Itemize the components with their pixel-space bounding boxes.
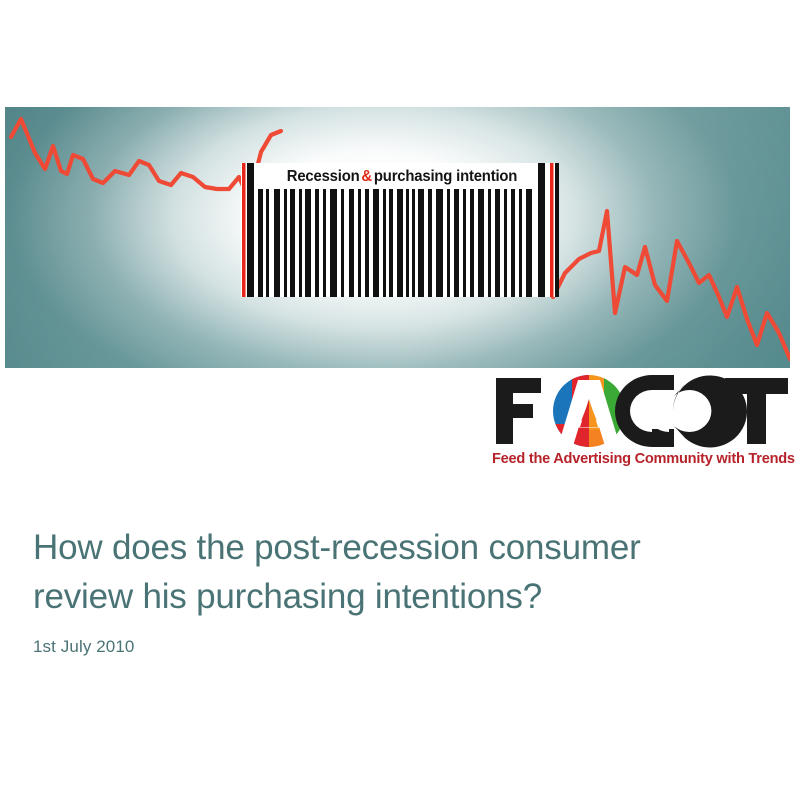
title-block: How does the post-recession consumer rev… <box>33 523 773 657</box>
slide-date: 1st July 2010 <box>33 637 773 657</box>
index-line-right <box>553 211 790 359</box>
barcode-caption: Recession & purchasing intention <box>264 166 540 188</box>
fact-wordmark <box>492 372 792 450</box>
barcode-guard-right <box>550 163 554 297</box>
page-title-line-2: review his purchasing intentions? <box>33 572 773 621</box>
barcode-caption-before: Recession <box>287 168 360 186</box>
barcode-caption-ampersand: & <box>360 168 374 186</box>
logo-letter-f <box>496 378 541 444</box>
fact-logo: Feed the Advertising Community with Tren… <box>492 372 792 476</box>
page-title-line-1: How does the post-recession consumer <box>33 523 773 572</box>
barcode-guard-left <box>242 163 246 297</box>
fact-tagline: Feed the Advertising Community with Tren… <box>492 451 792 467</box>
slide-root: Recession & purchasing intention <box>0 0 800 800</box>
page-title: How does the post-recession consumer rev… <box>33 523 773 621</box>
barcode-caption-after: purchasing intention <box>374 168 517 186</box>
